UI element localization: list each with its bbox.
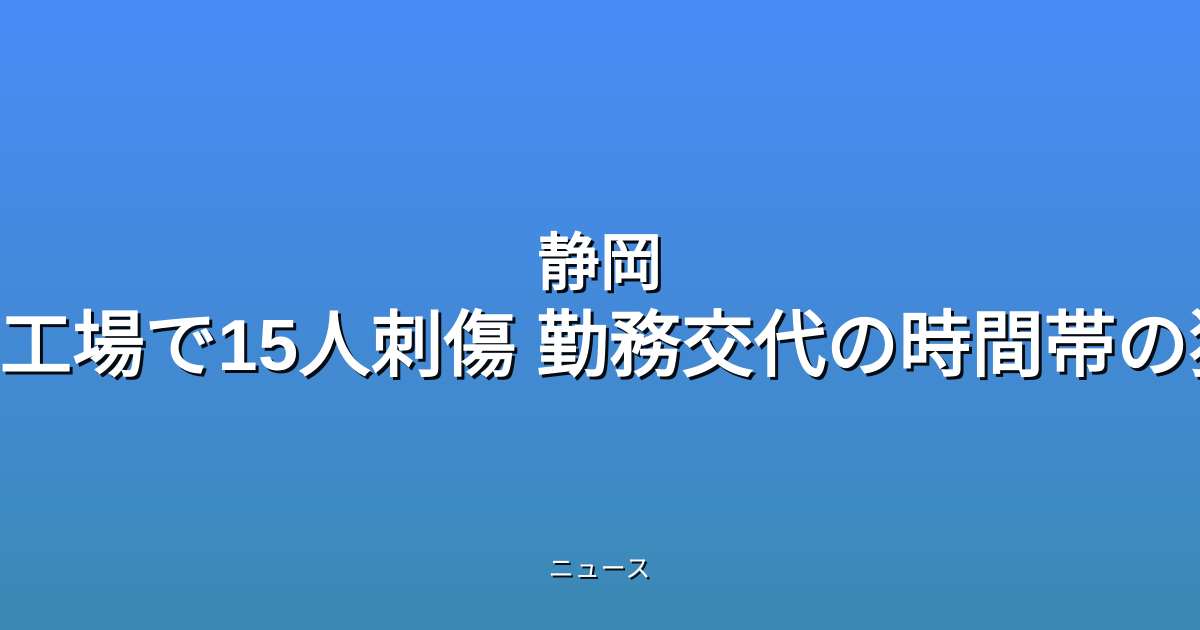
headline-line-2: 工場で15人刺傷 勤務交代の時間帯の犯行の話題: [0, 304, 1200, 388]
category-label: ニュース: [0, 552, 1200, 586]
headline-line-1: 静岡: [537, 226, 662, 302]
headline-block: 静岡 工場で15人刺傷 勤務交代の時間帯の犯行の話題: [0, 0, 1200, 630]
news-og-card: 静岡 工場で15人刺傷 勤務交代の時間帯の犯行の話題 ニュース: [0, 0, 1200, 630]
